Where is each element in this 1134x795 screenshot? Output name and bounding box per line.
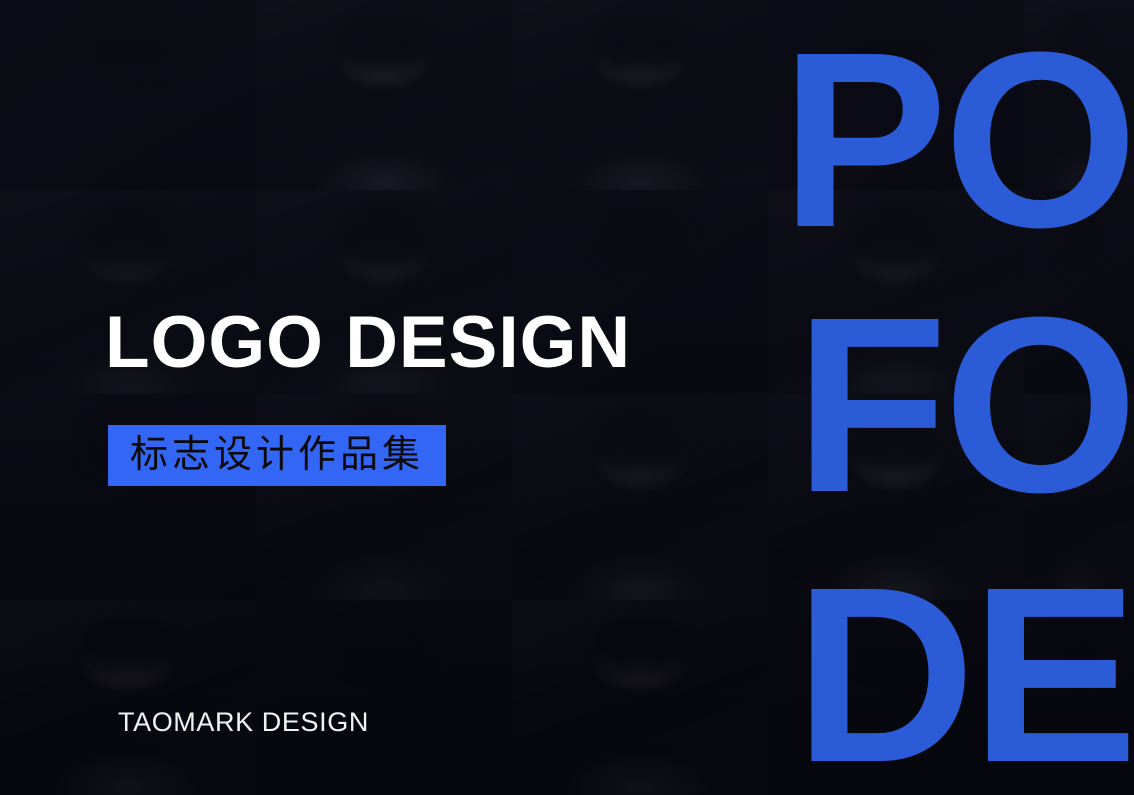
portrait-image <box>0 600 256 795</box>
photo-cell-person-round-glasses <box>768 394 1024 600</box>
photo-cell-empty-dark <box>768 0 1024 190</box>
headline-block: LOGO DESIGN 标志设计作品集 <box>105 306 631 486</box>
photo-cell-man-glasses-looking-away <box>768 190 1024 394</box>
portrait-image <box>0 0 256 190</box>
portrait-image <box>1024 600 1134 795</box>
photo-cell-woman-partial <box>1024 0 1134 190</box>
portrait-image <box>256 0 512 190</box>
brand-mark: TAOMARK DESIGN <box>118 707 369 738</box>
photo-cell-woman-long-hair-white-shirt <box>256 0 512 190</box>
photo-cell-empty-dark <box>0 0 256 190</box>
photo-cell-woman-smiling-dark-top <box>512 0 768 190</box>
photo-cell-empty-dark <box>1024 190 1134 394</box>
subtitle-badge: 标志设计作品集 <box>108 425 446 486</box>
photo-cell-woman-long-dark-hair <box>512 600 768 795</box>
portrait-image <box>768 0 1024 190</box>
photo-cell-empty-dark <box>768 600 1024 795</box>
page-title: LOGO DESIGN <box>105 306 631 379</box>
photo-cell-woman-glasses-smiling <box>0 600 256 795</box>
photo-cell-person-partial <box>1024 394 1134 600</box>
portrait-image <box>768 600 1024 795</box>
photo-cell-empty-dark <box>256 600 512 795</box>
portrait-image <box>768 394 1024 600</box>
portrait-image <box>512 600 768 795</box>
portrait-image <box>768 190 1024 394</box>
photo-cell-empty-dark <box>1024 600 1134 795</box>
portrait-image <box>1024 0 1134 190</box>
portrait-image <box>1024 190 1134 394</box>
poster-canvas: PO FO DE LOGO DESIGN 标志设计作品集 TAOMARK DES… <box>0 0 1134 795</box>
portrait-image <box>1024 394 1134 600</box>
portrait-image <box>256 600 512 795</box>
portrait-image <box>512 0 768 190</box>
